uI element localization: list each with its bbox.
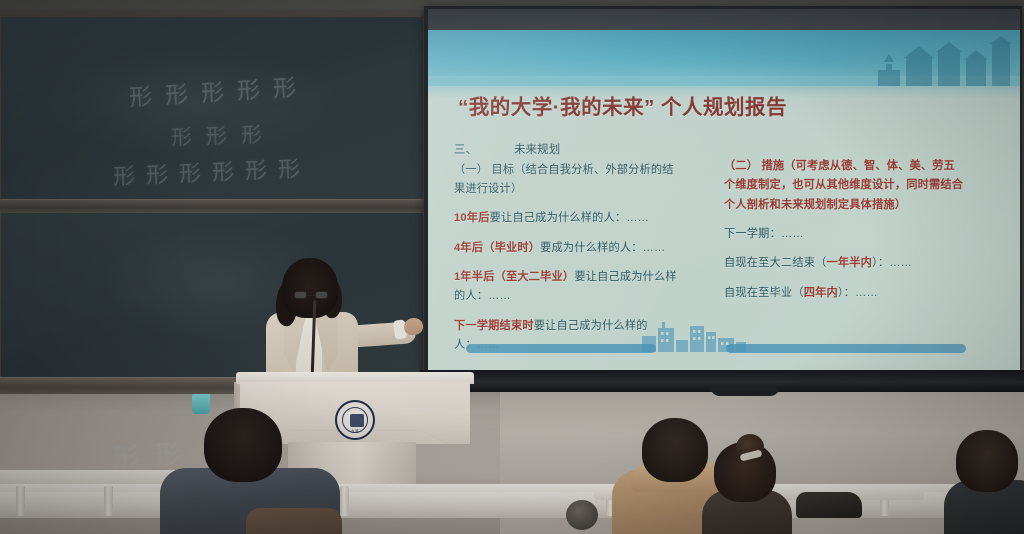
seat-post [104, 486, 113, 516]
subsection-b-line1: （二） 措施（可考虑从德、智、体、美、劳五 [724, 158, 1006, 175]
screen-top-shade [428, 9, 1020, 32]
backpack [246, 508, 342, 534]
section-title: 未来规划 [514, 144, 560, 156]
city-skyline-silhouette-icon [640, 318, 760, 352]
goal-item-3-cont: 的人：…… [454, 288, 722, 305]
goal-item-3: 1年半后（至大二毕业）要让自己成为什么样 [454, 269, 722, 286]
goal-item-4-highlight: 下一学期结束时 [454, 320, 534, 332]
chalk-line-3: 形形形形形形 [112, 151, 311, 192]
lecture-hall-scene: 形形形形形 形形形 形形形形形形 形形 形形形 [0, 0, 1024, 534]
university-emblem-icon: 大学 [335, 400, 375, 440]
bag-on-desk-left [566, 500, 598, 530]
measure-item-2-highlight: 一年半内 [827, 257, 873, 269]
measure-item-3-post: ）：…… [838, 287, 878, 299]
emblem-label: 大学 [337, 429, 373, 434]
audience-head [204, 408, 282, 482]
goal-item-2-text: 要成为什么样的人：…… [540, 242, 665, 254]
goal-item-2: 4年后（毕业时）要成为什么样的人：…… [454, 240, 722, 257]
presenter-hair [282, 258, 338, 318]
measure-item-1-post: ：…… [770, 228, 804, 240]
glasses-icon [294, 291, 328, 299]
measure-item-3-highlight: 四年内 [804, 287, 838, 299]
measure-item-2: 自现在至大二结束（一年半内）：…… [724, 255, 1006, 272]
backpack-on-desk [796, 492, 862, 518]
goal-item-3-highlight: 1年半后（至大二毕业） [454, 271, 574, 283]
measure-item-3: 自现在至毕业（四年内）：…… [724, 285, 1006, 302]
measure-item-1: 下一学期：…… [724, 226, 1006, 243]
subsection-a-line2: 果进行设计） [454, 181, 722, 198]
campus-building-silhouette-icon [874, 34, 1014, 86]
audience-member-front-left [160, 408, 340, 534]
slide-right-column: （二） 措施（可考虑从德、智、体、美、劳五 个维度制定，也可从其他维度设计，同时… [724, 158, 1006, 304]
cup-on-desk [192, 394, 210, 414]
seat-post [340, 486, 349, 516]
audience-member-bun [700, 438, 792, 534]
seat-post [16, 486, 25, 516]
chalk-smear [41, 47, 341, 157]
measure-item-1-pre: 下一学期 [724, 228, 770, 240]
section-number: 三、 [454, 144, 477, 156]
goal-item-3-text: 要让自己成为什么样 [574, 271, 677, 283]
slide-title: “我的大学·我的未来” 个人规划报告 [458, 90, 998, 120]
goal-item-4-text: 要让自己成为什么样的 [534, 320, 648, 332]
goal-item-2-highlight: 4年后（毕业时） [454, 242, 540, 254]
screen-bottom-knob [710, 386, 780, 396]
section-heading: 三、 未来规划 [454, 142, 722, 160]
measure-item-3-pre: 自现在至毕业（ [724, 287, 804, 299]
audience-head [956, 430, 1018, 492]
subsection-b-line3: 个人剖析和未来规划制定具体措施） [724, 197, 1006, 214]
goal-item-1: 10年后要让自己成为什么样的人：…… [454, 210, 722, 227]
measure-item-2-post: ）：…… [872, 257, 912, 269]
measure-item-2-pre: 自现在至大二结束（ [724, 257, 827, 269]
subsection-b-line2: 个维度制定，也可从其他维度设计，同时需结合 [724, 177, 1006, 194]
goal-item-1-text: 要让自己成为什么样的人：…… [490, 212, 649, 224]
presentation-slide[interactable]: “我的大学·我的未来” 个人规划报告 三、 未来规划 （一） 目标（结合自我分析… [428, 30, 1020, 370]
subsection-a-line1: （一） 目标（结合自我分析、外部分析的结 [454, 162, 722, 179]
audience-member-right [950, 430, 1024, 534]
blackboard-upper-panel: 形形形形形 形形形 形形形形形形 [1, 17, 423, 199]
audience-head [642, 418, 708, 482]
goal-item-1-highlight: 10年后 [454, 212, 490, 224]
blackboard-rail [0, 199, 427, 214]
